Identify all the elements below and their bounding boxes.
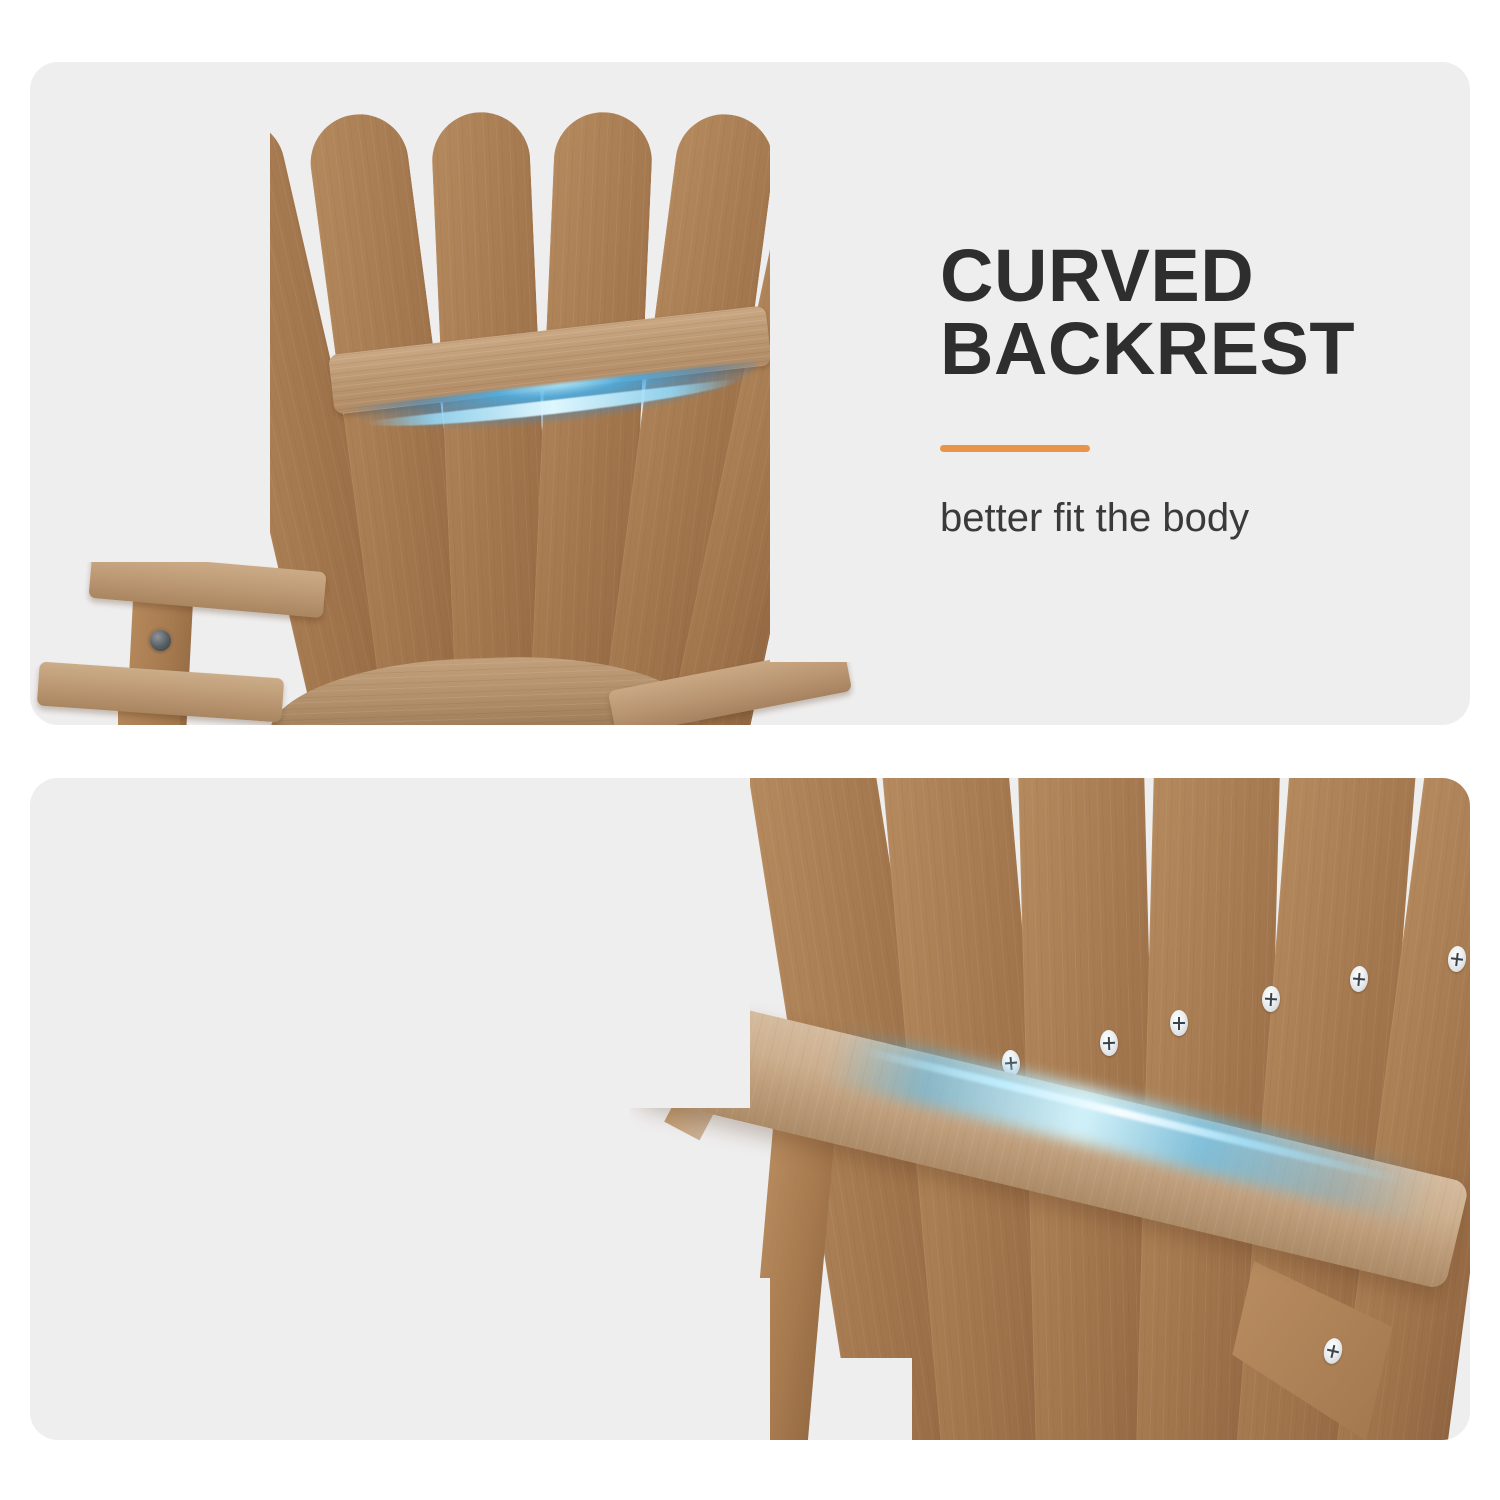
image-mask [822,1358,912,1440]
image-mask [30,62,270,562]
product-image-wide-armrests [630,778,1470,1440]
left-lower-armrest [37,662,284,723]
image-mask [630,1278,770,1440]
product-image-curved-backrest [30,62,930,725]
image-mask [30,778,630,1440]
feature-text-curved-backrest: CURVED BACKREST better fit the body [940,240,1460,541]
bolt-icon [150,630,171,651]
product-feature-layout: CURVED BACKREST better fit the body WIDE… [0,0,1500,1500]
screw-icon [1170,1010,1188,1036]
feature-subtext: better fit the body [940,496,1460,541]
image-mask [630,778,750,1108]
feature-card-wide-armrests: WIDE ARMRESTS for better arm relaxation [30,778,1470,1440]
feature-heading: CURVED BACKREST [940,240,1460,385]
accent-divider [940,445,1090,452]
feature-card-curved-backrest: CURVED BACKREST better fit the body [30,62,1470,725]
